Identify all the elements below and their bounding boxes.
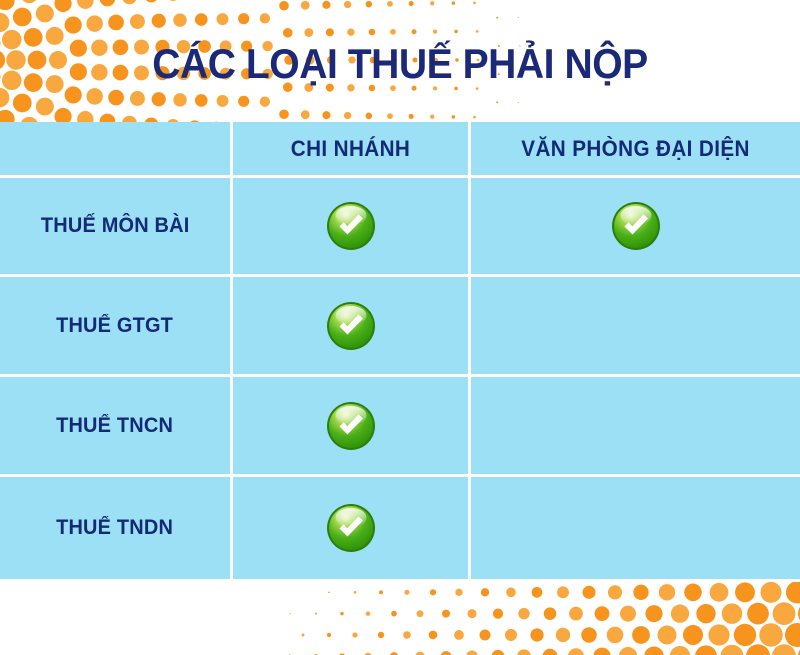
table-row: THUẾ TNDN (0, 477, 800, 579)
row-rep-office-cell (471, 477, 800, 579)
table-row: THUẾ MÔN BÀI (0, 178, 800, 277)
row-label: THUẾ GTGT (57, 314, 174, 338)
table-row: THUẾ TNCN (0, 377, 800, 477)
branch-check-slot (326, 503, 376, 553)
row-branch-cell (233, 377, 471, 477)
row-rep-office-cell (471, 178, 800, 277)
rep-office-check-slot (611, 201, 661, 251)
green-check-circle-icon (326, 301, 376, 351)
green-check-circle-icon (326, 201, 376, 251)
page-title: CÁC LOẠI THUẾ PHẢI NỘP (28, 36, 772, 92)
row-label-cell: THUẾ TNDN (0, 477, 233, 579)
table-header-row: CHI NHÁNH VĂN PHÒNG ĐẠI DIỆN (0, 122, 800, 178)
row-label-cell: THUẾ MÔN BÀI (0, 178, 233, 277)
row-label: THUẾ TNDN (57, 516, 174, 540)
row-branch-cell (233, 178, 471, 277)
header-rep-office-cell: VĂN PHÒNG ĐẠI DIỆN (471, 122, 800, 178)
poster-canvas: CÁC LOẠI THUẾ PHẢI NỘP CHI NHÁNH VĂN PHÒ… (0, 0, 800, 655)
row-branch-cell (233, 477, 471, 579)
green-check-circle-icon (326, 503, 376, 553)
header-rep-office-label: VĂN PHÒNG ĐẠI DIỆN (521, 136, 750, 162)
header-branch-cell: CHI NHÁNH (233, 122, 471, 178)
branch-check-slot (326, 401, 376, 451)
row-label-cell: THUẾ GTGT (0, 277, 233, 377)
row-label: THUẾ TNCN (57, 414, 174, 438)
branch-check-slot (326, 301, 376, 351)
header-branch-label: CHI NHÁNH (291, 136, 410, 162)
table-row: THUẾ GTGT (0, 277, 800, 377)
row-rep-office-cell (471, 377, 800, 477)
branch-check-slot (326, 201, 376, 251)
row-label-cell: THUẾ TNCN (0, 377, 233, 477)
row-label: THUẾ MÔN BÀI (41, 214, 190, 238)
row-branch-cell (233, 277, 471, 377)
tax-comparison-table: CHI NHÁNH VĂN PHÒNG ĐẠI DIỆN THUẾ MÔN BÀ… (0, 122, 800, 582)
header-corner-cell (0, 122, 233, 178)
row-rep-office-cell (471, 277, 800, 377)
green-check-circle-icon (611, 201, 661, 251)
green-check-circle-icon (326, 401, 376, 451)
